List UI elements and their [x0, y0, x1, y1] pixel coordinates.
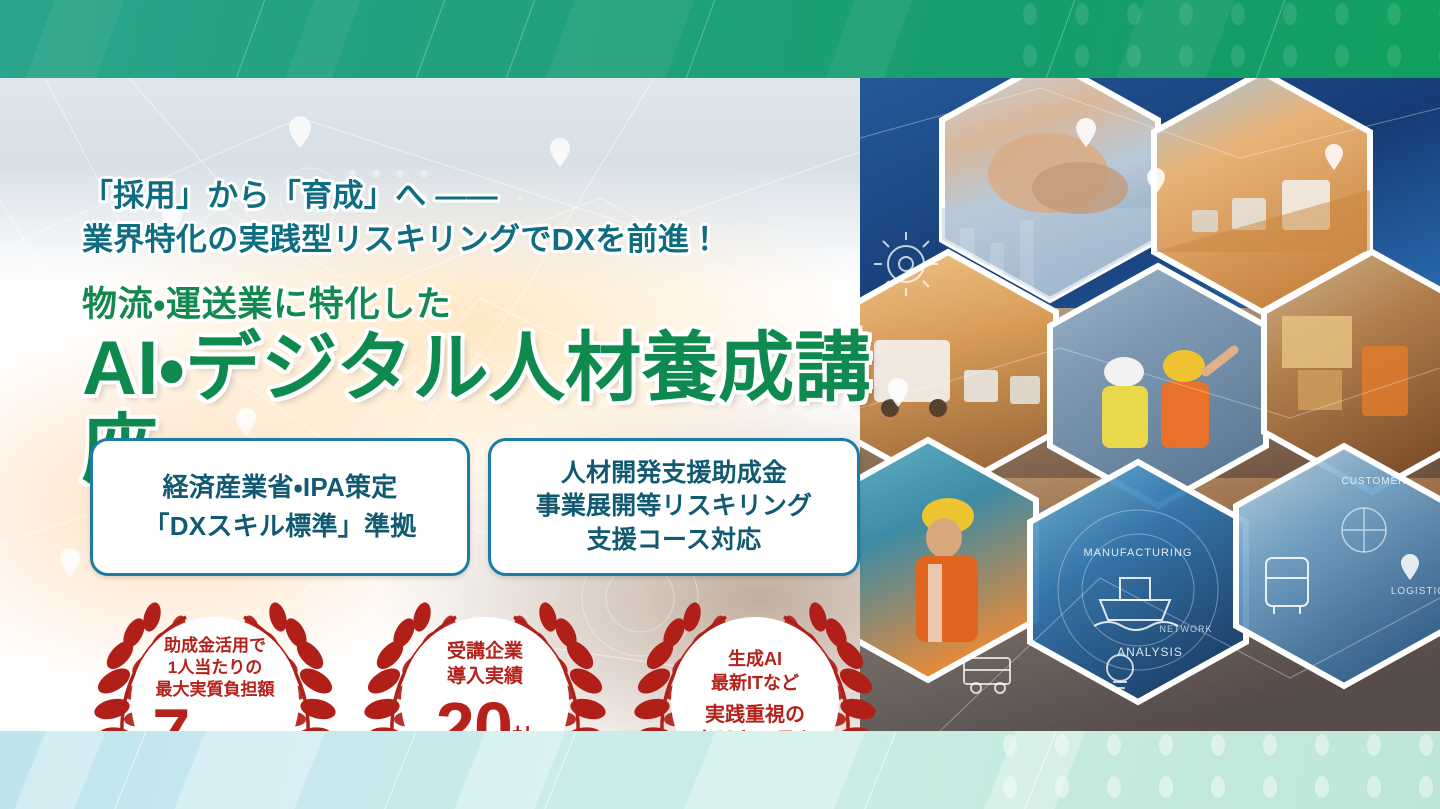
laurel-line-3: 実践重視の — [705, 703, 805, 728]
laurel-number: 20 — [436, 694, 512, 731]
bottomband-streak — [435, 731, 584, 809]
topbar-streak — [274, 0, 371, 78]
pill-line-1: 経済産業省・IPA策定 — [162, 468, 397, 507]
pill-subsidy-course[interactable]: 人材開発支援助成金 事業展開等リスキリング 支援コース対応 — [488, 438, 860, 576]
subtitle: 物流・運送業に特化した — [82, 284, 912, 326]
laurel-number: 7 — [152, 701, 189, 731]
laurel-line-1: 生成AI — [728, 648, 782, 671]
lead-line-1: 「採用」から「育成」へ —— — [82, 174, 912, 218]
bottomband-hairline — [95, 731, 165, 809]
certification-pills: 経済産業省・IPA策定 「DXスキル標準」準拠 人材開発支援助成金 事業展開等リ… — [90, 438, 860, 576]
topbar-hairline — [494, 0, 546, 78]
laurel-number-row: 7 万円以下 — [152, 701, 277, 731]
pill-line-2: 事業展開等リスキリング — [536, 490, 812, 524]
topbar-hairline — [224, 0, 276, 78]
laurel-line-1: 受講企業 — [447, 640, 523, 665]
collage-label-logistics: LOGISTICS — [1391, 586, 1440, 597]
laurel-line-2: 1人当たりの — [168, 657, 262, 679]
pill-line-1: 人材開発支援助成金 — [561, 457, 787, 491]
laurel-badge-curriculum[interactable]: 生成AI 最新ITなど 実践重視の カリキュラム — [630, 593, 880, 731]
pill-dx-skill-standard[interactable]: 経済産業省・IPA策定 「DXスキル標準」準拠 — [90, 438, 470, 576]
pill-line-2: 「DXスキル標準」準拠 — [144, 507, 417, 546]
bottomband-streak — [0, 731, 125, 809]
lead-line-2: 業界特化の実践型リスキリングでDXを前進！ — [82, 218, 912, 262]
pill-line-3: 支援コース対応 — [587, 524, 762, 558]
hexagon-photo-collage: MANUFACTURING ANALYSIS NETWORK — [860, 78, 1440, 731]
laurel-line-1: 助成金活用で — [164, 635, 266, 657]
collage-label-customer: CUSTOMER — [1341, 476, 1406, 487]
topbar-hairline — [404, 0, 456, 78]
laurel-badge-max-self-cost[interactable]: 助成金活用で 1人当たりの 最大実質負担額 7 万円以下 — [90, 593, 340, 731]
bottomband-dot-pattern — [1000, 731, 1440, 809]
laurel-line-2: 導入実績 — [447, 665, 523, 690]
top-green-bar — [0, 0, 1440, 78]
laurel-badge-company-count[interactable]: 受講企業 導入実績 20 社 — [360, 593, 610, 731]
topbar-streak — [814, 0, 923, 78]
laurel-unit: 社 — [512, 720, 534, 731]
laurel-line-2: 最新ITなど — [711, 672, 799, 695]
bottomband-streak — [155, 731, 344, 809]
bottom-mint-band — [0, 731, 1440, 809]
hero-stage: MANUFACTURING ANALYSIS NETWORK — [0, 78, 1440, 731]
bottomband-hairline — [365, 731, 435, 809]
laurel-number-row: 20 社 — [436, 694, 534, 731]
laurel-badges: 助成金活用で 1人当たりの 最大実質負担額 7 万円以下 — [90, 593, 880, 731]
topbar-streak — [14, 0, 135, 78]
topbar-dot-pattern — [1020, 0, 1440, 78]
bottomband-streak — [665, 731, 884, 809]
hero-banner: MANUFACTURING ANALYSIS NETWORK — [0, 0, 1440, 809]
topbar-streak — [534, 0, 705, 78]
